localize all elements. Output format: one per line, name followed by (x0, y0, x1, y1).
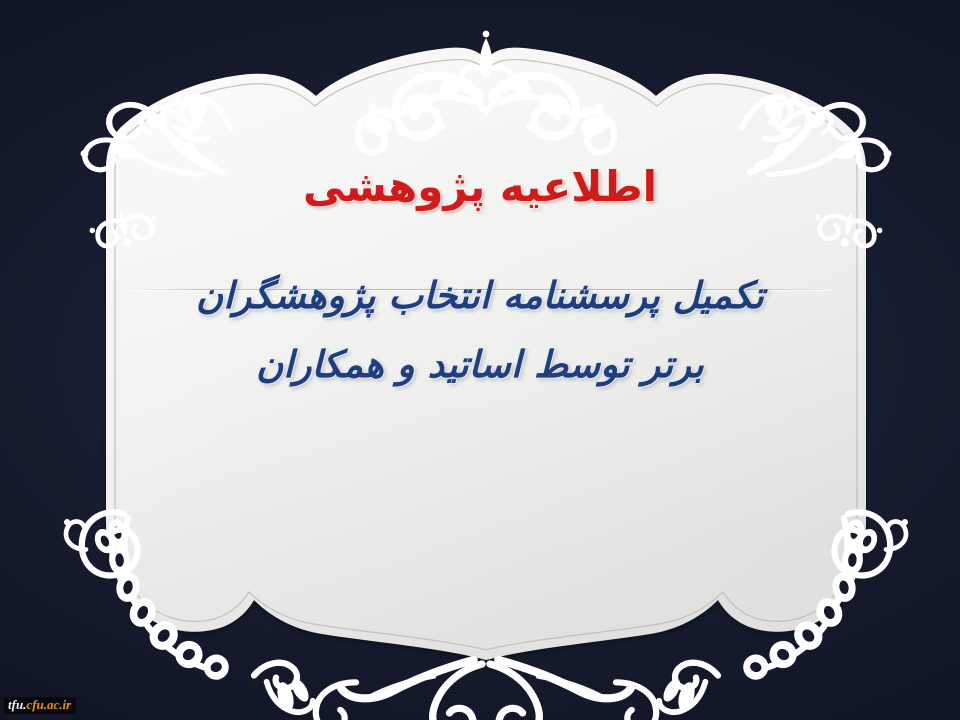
page-title: اطلاعیه پژوهشی (303, 163, 657, 211)
panel-content: اطلاعیه پژوهشی تکمیل پرسشنامه انتخاب پژو… (120, 105, 840, 625)
body-line-1: تکمیل پرسشنامه انتخاب پژوهشگران (130, 262, 830, 330)
site-watermark: tfu.cfu.ac.ir (4, 697, 76, 714)
body-text-block: تکمیل پرسشنامه انتخاب پژوهشگران برتر توس… (130, 262, 830, 399)
body-line-2: برتر توسط اساتید و همکاران (130, 331, 830, 399)
watermark-domain: cfu.ac.ir (26, 697, 71, 712)
bottom-center-ornament (316, 660, 656, 720)
announcement-slide: اطلاعیه پژوهشی تکمیل پرسشنامه انتخاب پژو… (0, 0, 960, 720)
watermark-prefix: tfu. (8, 697, 26, 712)
